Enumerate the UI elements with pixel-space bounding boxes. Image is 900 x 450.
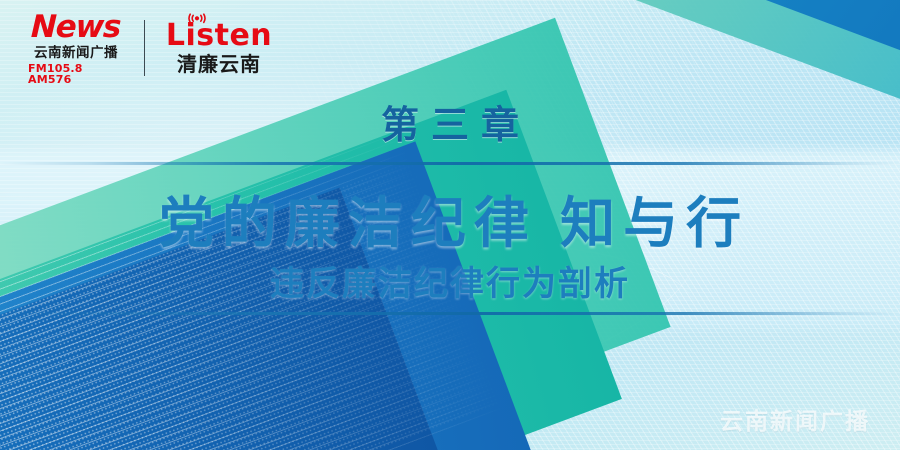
listen-logo: Listen 清廉云南 xyxy=(167,21,271,75)
news-station-name: 云南新闻广播 xyxy=(34,46,118,60)
chapter-label: 第三章 xyxy=(0,94,900,149)
listen-wordmark-wrap: Listen xyxy=(166,21,272,51)
watermark: 云南新闻广播 xyxy=(720,402,870,436)
logo-divider xyxy=(144,20,145,76)
poster-canvas: News 云南新闻广播 FM105.8 AM576 xyxy=(0,0,900,450)
divider-rule-bottom xyxy=(0,312,900,315)
page-subtitle: 违反廉洁纪律行为剖析 xyxy=(0,256,900,305)
listen-wordmark: Listen xyxy=(166,18,272,53)
news-logo: News 云南新闻广播 FM105.8 AM576 xyxy=(28,12,124,85)
signal-waves-icon xyxy=(186,12,208,25)
page-title: 党的廉洁纪律 知与行 xyxy=(0,178,900,258)
news-wordmark: News xyxy=(31,12,121,43)
divider-rule-top xyxy=(0,162,900,165)
news-frequency: FM105.8 AM576 xyxy=(28,63,124,85)
listen-tagline: 清廉云南 xyxy=(177,55,261,75)
logo-bar: News 云南新闻广播 FM105.8 AM576 xyxy=(28,12,271,85)
